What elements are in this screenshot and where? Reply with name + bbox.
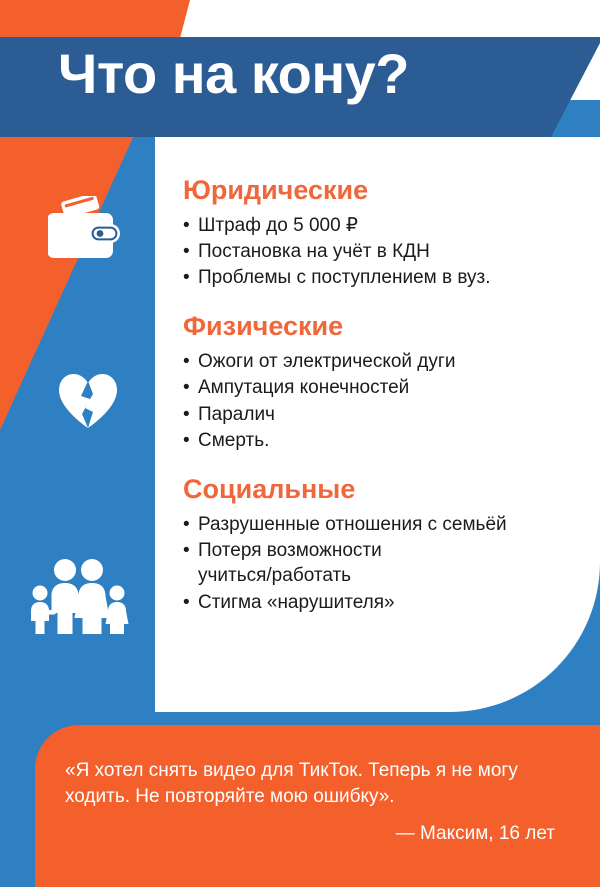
section-heading-legal: Юридические	[183, 176, 583, 206]
bullet-list-social: Разрушенные отношения с семьёй Потеря во…	[183, 512, 583, 615]
list-item: Постановка на учёт в КДН	[183, 239, 583, 264]
list-item: Потеря возможности учиться/работать	[183, 538, 583, 589]
family-icon	[24, 555, 132, 640]
list-item: Стигма «нарушителя»	[183, 590, 583, 615]
broken-heart-icon	[57, 372, 119, 435]
list-item: Смерть.	[183, 428, 583, 453]
section-social: Социальные Разрушенные отношения с семьё…	[183, 475, 583, 615]
section-legal: Юридические Штраф до 5 000 ₽ Постановка …	[183, 176, 583, 290]
list-item: Разрушенные отношения с семьёй	[183, 512, 583, 537]
section-heading-social: Социальные	[183, 475, 583, 505]
list-item: Штраф до 5 000 ₽	[183, 213, 583, 238]
bullet-list-physical: Ожоги от электрической дуги Ампутация ко…	[183, 349, 583, 453]
wallet-icon	[48, 196, 122, 267]
page-title: Что на кону?	[58, 46, 409, 102]
quote-text: «Я хотел снять видео для ТикТок. Теперь …	[65, 758, 555, 810]
list-item: Ампутация конечностей	[183, 375, 583, 400]
quote-attribution: — Максим, 16 лет	[65, 821, 555, 847]
section-physical: Физические Ожоги от электрической дуги А…	[183, 312, 583, 453]
list-item: Проблемы с поступлением в вуз.	[183, 265, 583, 290]
bullet-list-legal: Штраф до 5 000 ₽ Постановка на учёт в КД…	[183, 213, 583, 291]
list-item: Паралич	[183, 402, 583, 427]
section-heading-physical: Физические	[183, 312, 583, 342]
infographic-poster: Что на кону?	[0, 0, 600, 887]
list-item: Ожоги от электрической дуги	[183, 349, 583, 374]
risk-sections: Юридические Штраф до 5 000 ₽ Постановка …	[183, 176, 583, 637]
